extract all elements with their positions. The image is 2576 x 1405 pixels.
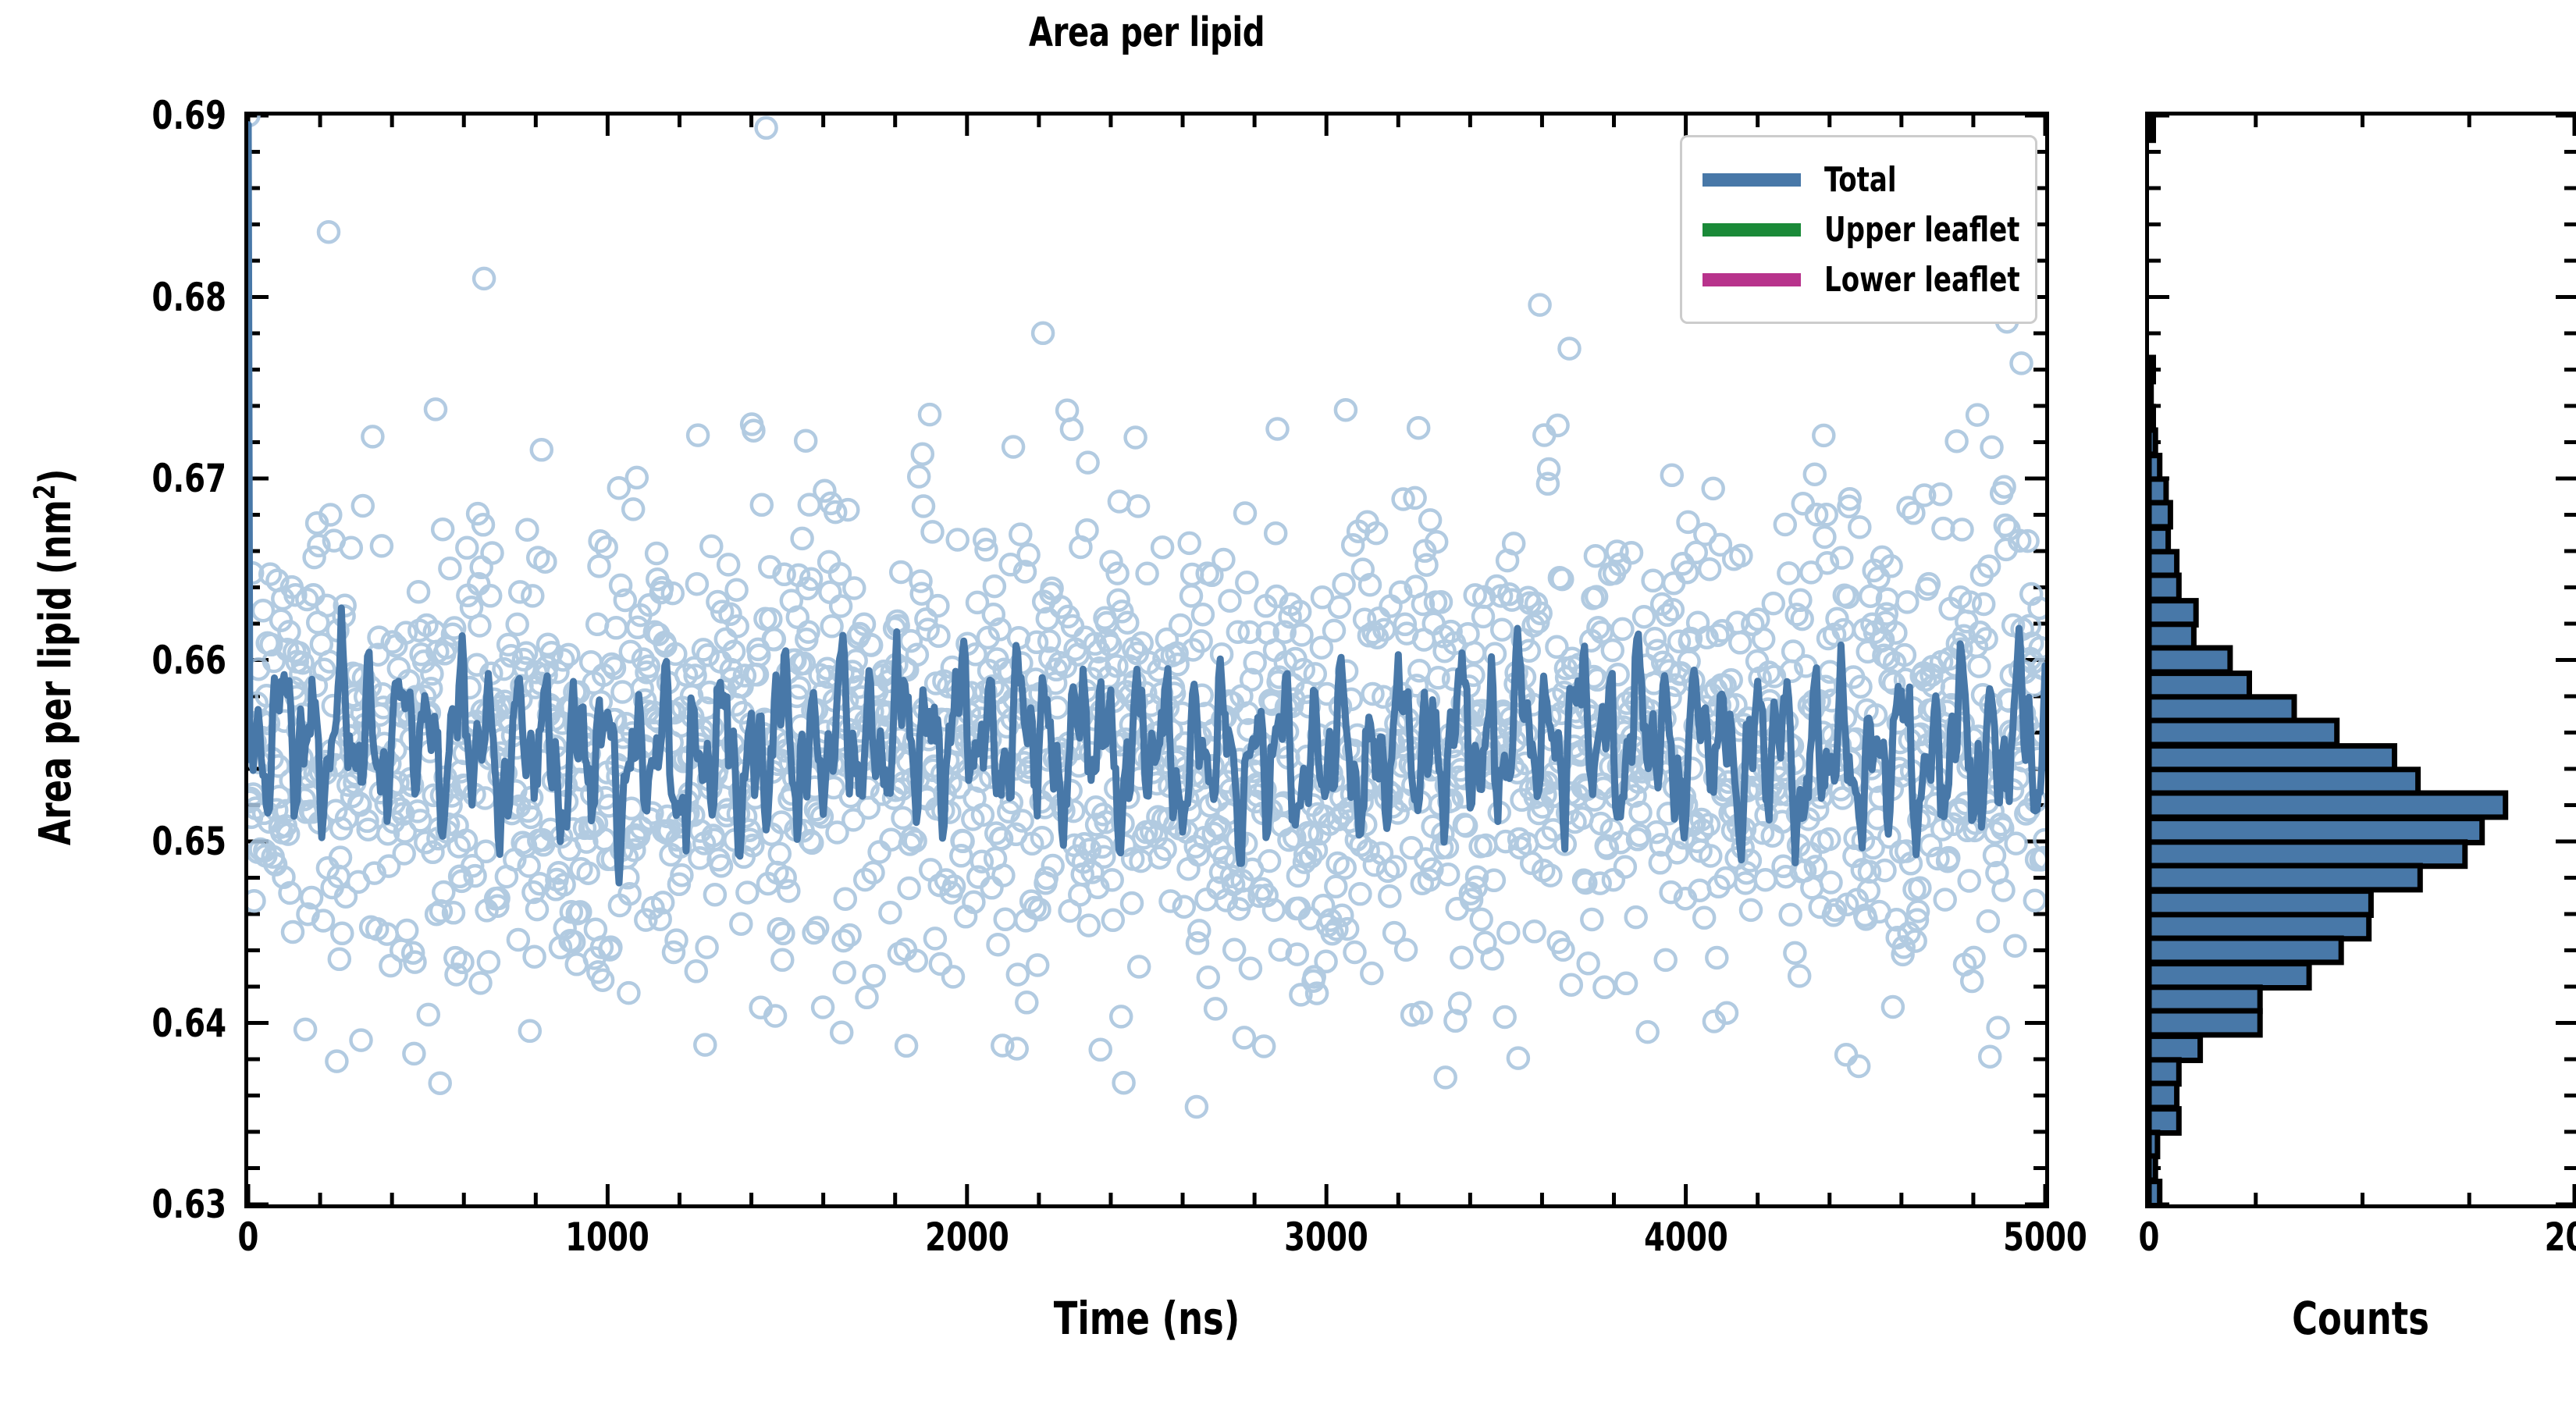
legend-item-lower-leaflet[interactable]: Lower leaflet [1703,254,2015,304]
legend-label-lower-leaflet: Lower leaflet [1824,260,2020,300]
y-axis-title-text: Area per lipid (nm [30,500,81,845]
histogram-x-axis-title: Counts [2176,1292,2546,1345]
legend: Total Upper leaflet Lower leaflet [1680,135,2037,324]
y-axis-tick-0.68: 0.68 [72,278,226,317]
legend-swatch-upper-leaflet [1703,223,1801,237]
y-axis-tick-0.66: 0.66 [72,641,226,680]
x-axis-tick-0: 0 [148,1218,349,1257]
x-axis-tick-3000: 3000 [1226,1218,1427,1257]
legend-swatch-lower-leaflet [1703,273,1801,286]
y-axis-title-paren: ) [30,469,81,485]
y-axis-tick-0.65: 0.65 [72,822,226,861]
x-axis-tick-4000: 4000 [1585,1218,1787,1257]
figure-canvas: Area per lipid 0.630.640.650.660.670.680… [0,0,2576,1405]
y-axis-title-superscript: 2 [28,484,62,500]
legend-item-total[interactable]: Total [1703,155,2015,205]
legend-item-upper-leaflet[interactable]: Upper leaflet [1703,205,2015,254]
legend-label-upper-leaflet: Upper leaflet [1824,210,2019,250]
x-axis-tick-2000: 2000 [866,1218,1068,1257]
histogram-x-tick-200: 200 [2475,1218,2576,1257]
histogram-x-tick-0: 0 [2048,1218,2250,1257]
page-title: Area per lipid [371,9,1923,56]
y-axis-tick-0.64: 0.64 [72,1004,226,1043]
x-axis-tick-1000: 1000 [507,1218,708,1257]
legend-label-total: Total [1824,160,1897,200]
x-axis-title: Time (ns) [371,1292,1923,1345]
y-axis-tick-0.67: 0.67 [72,459,226,498]
histogram-canvas [2149,116,2576,1204]
y-axis-tick-0.69: 0.69 [72,96,226,135]
y-axis-title: Area per lipid (nm2) [28,180,81,1133]
legend-swatch-total [1703,173,1801,187]
histogram-axes [2145,112,2576,1208]
